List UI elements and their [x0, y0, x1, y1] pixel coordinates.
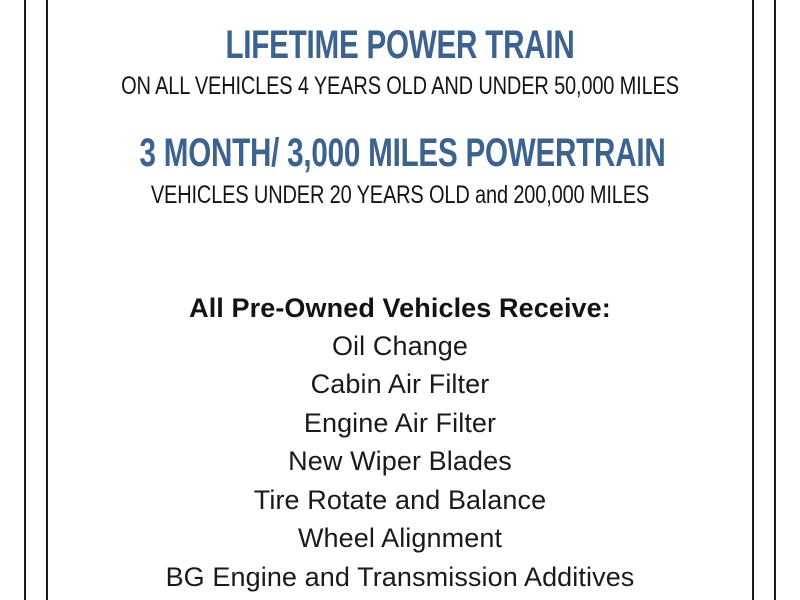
frame-rule-inner-right [752, 0, 754, 600]
services-list: Oil Change Cabin Air Filter Engine Air F… [48, 327, 752, 597]
service-item: Engine Air Filter [48, 404, 752, 443]
services-heading: All Pre-Owned Vehicles Receive: [48, 289, 752, 327]
warranty-block-lifetime: LIFETIME POWER TRAIN ON ALL VEHICLES 4 Y… [48, 0, 752, 102]
services-section: All Pre-Owned Vehicles Receive: Oil Chan… [48, 289, 752, 597]
service-item: Cabin Air Filter [48, 365, 752, 404]
service-item: New Wiper Blades [48, 442, 752, 481]
warranty-flyer: LIFETIME POWER TRAIN ON ALL VEHICLES 4 Y… [48, 0, 752, 600]
warranty-subtitle-three-month: VEHICLES UNDER 20 YEARS OLD and 200,000 … [118, 180, 681, 211]
service-item: Wheel Alignment [48, 519, 752, 558]
frame-rule-outer-right [774, 0, 776, 600]
warranty-title-lifetime: LIFETIME POWER TRAIN [140, 24, 661, 67]
service-item: Tire Rotate and Balance [48, 481, 752, 520]
service-item: BG Engine and Transmission Additives [48, 558, 752, 597]
frame-rule-outer-left [24, 0, 26, 600]
warranty-subtitle-lifetime: ON ALL VEHICLES 4 YEARS OLD AND UNDER 50… [118, 71, 681, 102]
service-item: Oil Change [48, 327, 752, 366]
warranty-block-three-month: 3 MONTH/ 3,000 MILES POWERTRAIN VEHICLES… [48, 102, 752, 210]
warranty-title-three-month: 3 MONTH/ 3,000 MILES POWERTRAIN [140, 132, 661, 175]
